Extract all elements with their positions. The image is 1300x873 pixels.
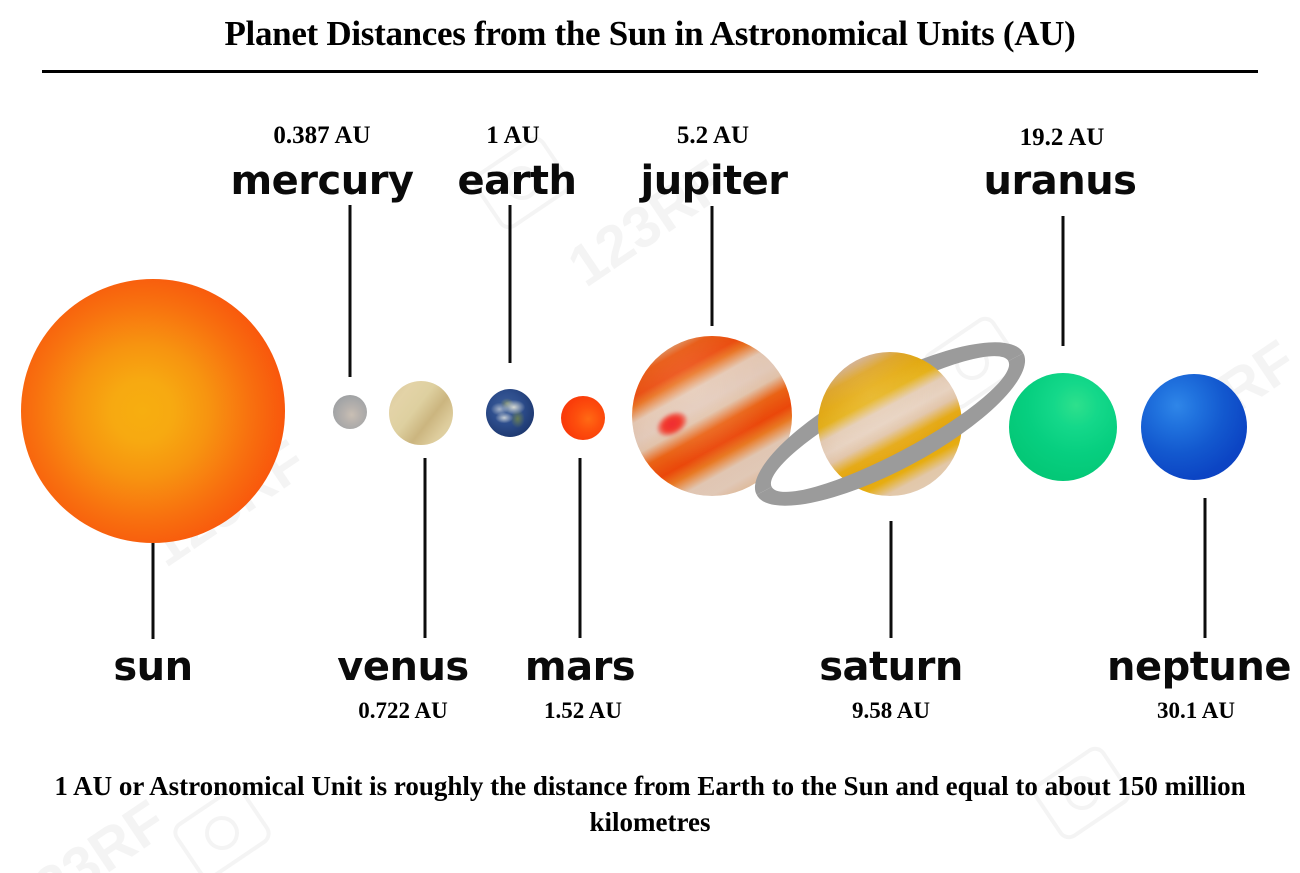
jupiter-shading — [632, 336, 792, 496]
connector-line-jupiter — [711, 206, 714, 326]
label-distance-mercury: 0.387 AU — [273, 122, 370, 150]
planet-mercury — [333, 395, 367, 429]
infographic-canvas: 123RF 123RF 123RF 123RF Planet Distances… — [0, 0, 1300, 873]
connector-line-mars — [579, 458, 582, 638]
label-distance-venus: 0.722 AU — [358, 698, 447, 724]
connector-line-saturn — [890, 521, 893, 638]
planet-earth — [486, 389, 534, 437]
label-name-sun: sun — [113, 644, 192, 690]
planet-jupiter — [632, 336, 792, 496]
saturn-shading — [818, 352, 962, 496]
label-distance-mars: 1.52 AU — [544, 698, 622, 724]
label-name-jupiter: jupiter — [640, 158, 787, 204]
planet-neptune — [1141, 374, 1247, 480]
planet-uranus — [1009, 373, 1117, 481]
connector-line-uranus — [1062, 216, 1065, 346]
connector-line-venus — [424, 458, 427, 638]
label-name-mars: mars — [525, 644, 635, 690]
label-distance-neptune: 30.1 AU — [1157, 698, 1235, 724]
connector-line-mercury — [349, 205, 352, 377]
label-distance-jupiter: 5.2 AU — [677, 122, 749, 150]
label-name-earth: earth — [458, 158, 577, 204]
label-name-saturn: saturn — [819, 644, 963, 690]
label-distance-saturn: 9.58 AU — [852, 698, 930, 724]
planet-sun — [21, 279, 285, 543]
page-title: Planet Distances from the Sun in Astrono… — [0, 14, 1300, 54]
planet-saturn — [818, 352, 962, 496]
connector-line-earth — [509, 205, 512, 363]
connector-line-neptune — [1204, 498, 1207, 638]
planet-mars — [561, 396, 605, 440]
label-distance-uranus: 19.2 AU — [1020, 124, 1105, 152]
label-name-uranus: uranus — [984, 158, 1137, 204]
caption-text: 1 AU or Astronomical Unit is roughly the… — [50, 768, 1250, 840]
label-name-neptune: neptune — [1107, 644, 1291, 690]
planet-venus — [389, 381, 453, 445]
title-divider — [42, 70, 1258, 73]
connector-line-sun — [152, 543, 155, 639]
label-distance-earth: 1 AU — [486, 122, 539, 150]
label-name-venus: venus — [337, 644, 468, 690]
label-name-mercury: mercury — [230, 158, 413, 204]
